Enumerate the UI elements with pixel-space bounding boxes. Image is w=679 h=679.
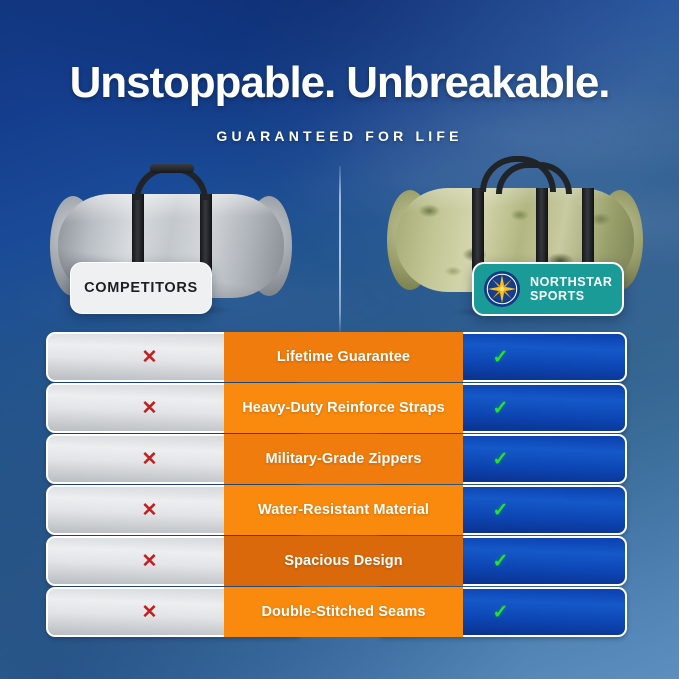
check-mark-icon: ✓ [493,348,509,367]
feature-label: Lifetime Guarantee [277,349,410,365]
check-mark-icon: ✓ [493,552,509,571]
check-mark-icon: ✓ [493,450,509,469]
feature-cell: Double-Stitched Seams [224,587,463,637]
table-row: ✕✓Lifetime Guarantee [0,332,679,382]
feature-cell: Military-Grade Zippers [224,434,463,484]
feature-label: Water-Resistant Material [258,502,429,518]
competitors-label-text: COMPETITORS [84,280,198,296]
check-mark-icon: ✓ [493,603,509,622]
bag-handle-grip [150,164,194,173]
comparison-infographic: Unstoppable. Unbreakable. GUARANTEED FOR… [0,0,679,679]
compass-star-logo-icon [483,270,521,308]
table-row: ✕✓Double-Stitched Seams [0,587,679,637]
feature-comparison-table: ✕✓Lifetime Guarantee✕✓Heavy-Duty Reinfor… [0,332,679,638]
x-mark-icon: ✕ [142,552,158,571]
table-row: ✕✓Heavy-Duty Reinforce Straps [0,383,679,433]
feature-cell: Heavy-Duty Reinforce Straps [224,383,463,433]
feature-cell: Spacious Design [224,536,463,586]
feature-label: Spacious Design [284,553,402,569]
feature-cell: Lifetime Guarantee [224,332,463,382]
table-row: ✕✓Water-Resistant Material [0,485,679,535]
check-mark-icon: ✓ [493,501,509,520]
brand-line-2: SPORTS [530,289,585,303]
feature-label: Heavy-Duty Reinforce Straps [242,400,445,416]
feature-label: Double-Stitched Seams [261,604,425,620]
brand-line-1: NORTHSTAR [530,275,613,289]
x-mark-icon: ✕ [142,348,158,367]
page-title: Unstoppable. Unbreakable. [0,58,679,108]
table-row: ✕✓Spacious Design [0,536,679,586]
feature-cell: Water-Resistant Material [224,485,463,535]
feature-label: Military-Grade Zippers [265,451,421,467]
x-mark-icon: ✕ [142,450,158,469]
x-mark-icon: ✕ [142,399,158,418]
table-row: ✕✓Military-Grade Zippers [0,434,679,484]
northstar-brand-text: NORTHSTAR SPORTS [530,275,613,303]
vertical-divider [339,166,341,332]
x-mark-icon: ✕ [142,501,158,520]
page-subtitle: GUARANTEED FOR LIFE [0,128,679,144]
check-mark-icon: ✓ [493,399,509,418]
competitors-label-chip: COMPETITORS [70,262,212,314]
northstar-brand-chip[interactable]: NORTHSTAR SPORTS [472,262,624,316]
x-mark-icon: ✕ [142,603,158,622]
